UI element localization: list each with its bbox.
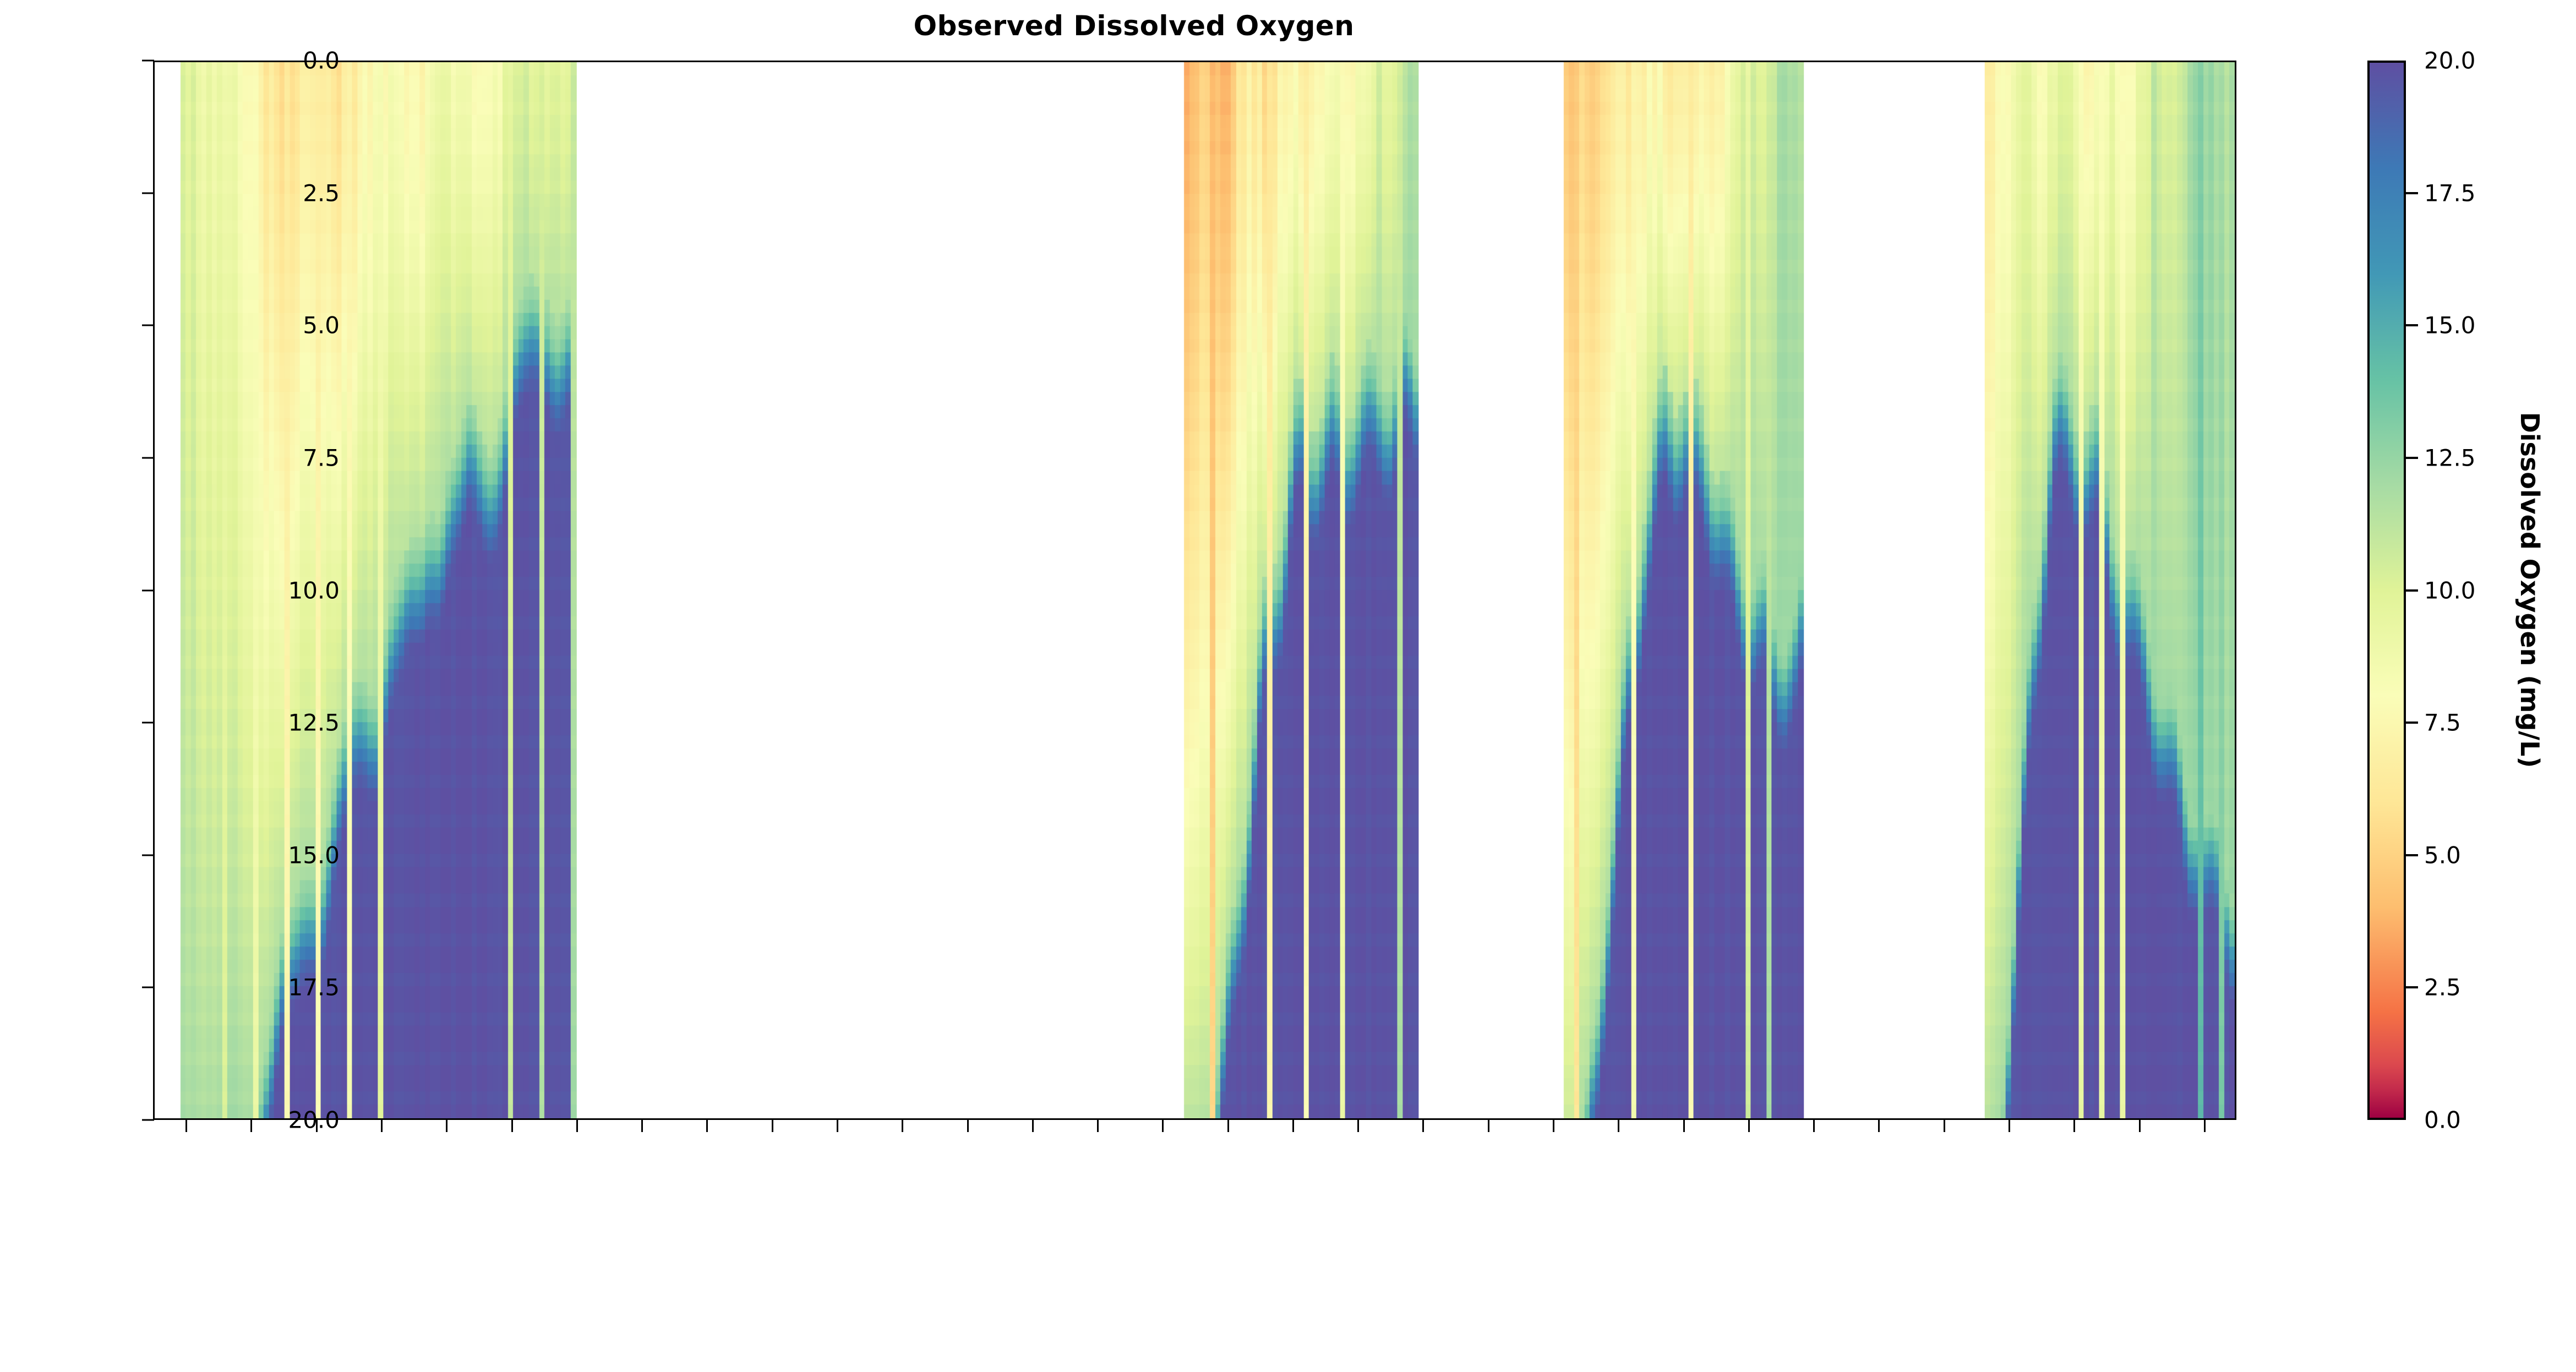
x-axis-tick-mark [837,1120,838,1132]
colorbar-tick-label: 5.0 [2424,841,2461,868]
x-axis-tick-mark [316,1120,318,1132]
y-axis-tick-mark [142,854,154,856]
y-axis-tick-mark [142,457,154,458]
y-axis-tick-mark [142,589,154,591]
y-axis-tick-label: 20.0 [288,1107,340,1134]
x-axis-tick-mark [2073,1120,2075,1132]
x-axis-tick-mark [185,1120,187,1132]
x-axis-tick-mark [902,1120,903,1132]
colorbar-tick-label: 20.0 [2424,47,2476,74]
heatmap-axes [153,61,2236,1120]
x-axis-tick-mark [2204,1120,2206,1132]
y-axis-tick-label: 7.5 [303,444,340,471]
colorbar-tick-label: 7.5 [2424,709,2461,736]
x-axis-tick-mark [1227,1120,1229,1132]
colorbar-tick-mark [2406,324,2418,326]
x-axis-tick-mark [1488,1120,1489,1132]
x-axis-tick-mark [446,1120,447,1132]
colorbar-tick-label: 10.0 [2424,577,2476,604]
y-axis-tick-mark [142,192,154,194]
x-axis-tick-mark [1813,1120,1815,1132]
y-axis-tick-label: 15.0 [288,841,340,868]
colorbar-tick-mark [2406,721,2418,724]
y-axis-tick-label: 10.0 [288,577,340,604]
x-axis-tick-mark [1944,1120,1945,1132]
colorbar-tick-mark [2406,854,2418,856]
x-axis-tick-mark [381,1120,383,1132]
colorbar-tick-label: 17.5 [2424,179,2476,206]
colorbar-tick-mark [2406,192,2418,194]
x-axis-tick-mark [1683,1120,1685,1132]
heatmap-canvas [155,62,2235,1118]
x-axis-tick-mark [967,1120,969,1132]
y-axis-tick-label: 12.5 [288,709,340,736]
y-axis-tick-mark [142,987,154,988]
y-axis-tick-label: 5.0 [303,312,340,339]
y-axis-tick-label: 2.5 [303,179,340,206]
y-axis-tick-mark [142,60,154,62]
x-axis-tick-mark [250,1120,252,1132]
colorbar-tick-label: 12.5 [2424,444,2476,471]
x-axis-tick-mark [706,1120,708,1132]
colorbar-tick-label: 15.0 [2424,312,2476,339]
x-axis-tick-mark [511,1120,513,1132]
figure-root: Observed Dissolved Oxygen Depth (m) Diss… [0,0,2576,1372]
y-axis-tick-mark [142,722,154,724]
colorbar-label: Dissolved Oxygen (mg/L) [2515,412,2545,768]
colorbar-tick-mark [2406,589,2418,592]
colorbar-tick-mark [2406,457,2418,459]
colorbar-tick-label: 0.0 [2424,1107,2461,1134]
page-title: Observed Dissolved Oxygen [0,10,2268,42]
x-axis-tick-mark [1618,1120,1619,1132]
y-axis-tick-label: 17.5 [288,974,340,1001]
x-axis-tick-mark [1878,1120,1880,1132]
x-axis-tick-mark [2139,1120,2141,1132]
x-axis-tick-mark [1422,1120,1424,1132]
x-axis-tick-mark [1748,1120,1750,1132]
y-axis-tick-mark [142,325,154,326]
x-axis-tick-mark [1032,1120,1034,1132]
x-axis-tick-mark [1357,1120,1359,1132]
x-axis-tick-mark [641,1120,643,1132]
x-axis-tick-mark [1292,1120,1294,1132]
x-axis-tick-mark [1097,1120,1099,1132]
x-axis-tick-mark [2009,1120,2010,1132]
colorbar-tick-label: 2.5 [2424,974,2461,1001]
x-axis-tick-mark [576,1120,578,1132]
y-axis-tick-mark [142,1119,154,1121]
x-axis-tick-mark [1553,1120,1554,1132]
x-axis-tick-mark [1162,1120,1164,1132]
y-axis-tick-label: 0.0 [303,47,340,74]
x-axis-tick-mark [772,1120,773,1132]
colorbar-gradient [2370,63,2404,1118]
colorbar-tick-mark [2406,986,2418,988]
colorbar [2367,61,2406,1120]
